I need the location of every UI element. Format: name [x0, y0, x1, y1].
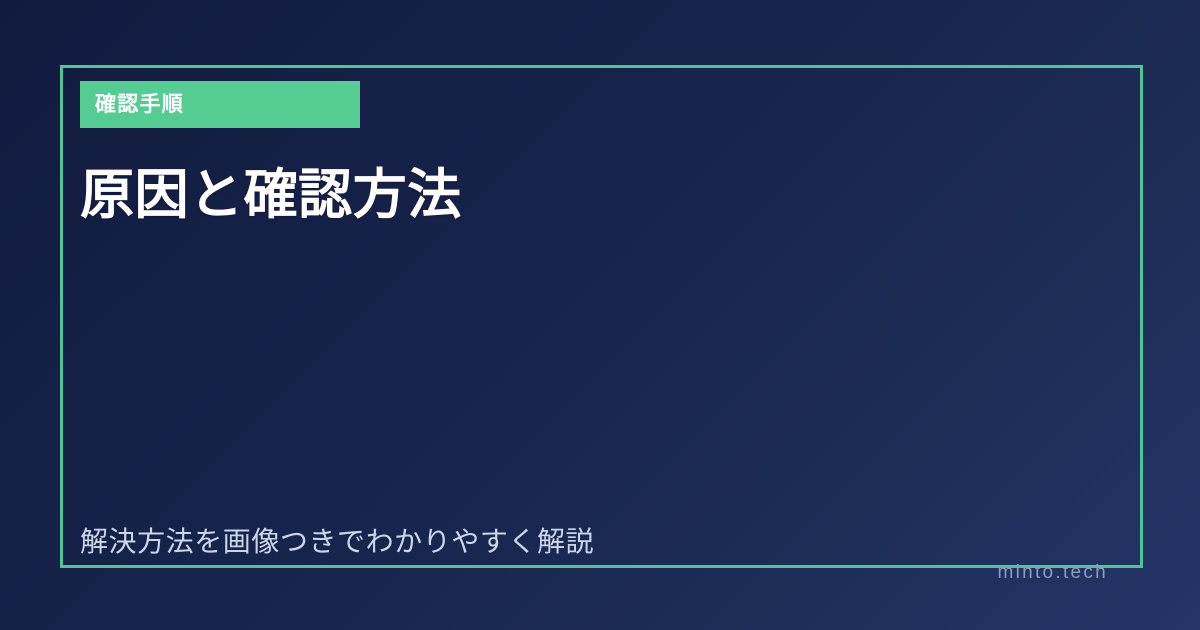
- category-badge-label: 確認手順: [95, 94, 184, 115]
- card-border-frame: [60, 65, 1143, 568]
- page-title: 原因と確認方法: [80, 163, 1090, 229]
- page-subtitle: 解決方法を画像つきでわかりやすく解説: [80, 524, 1090, 559]
- category-badge: 確認手順: [80, 81, 360, 128]
- ogp-card: 確認手順 原因と確認方法 解決方法を画像つきでわかりやすく解説 minto.te…: [0, 0, 1200, 630]
- brand-mark: minto.tech: [998, 563, 1108, 582]
